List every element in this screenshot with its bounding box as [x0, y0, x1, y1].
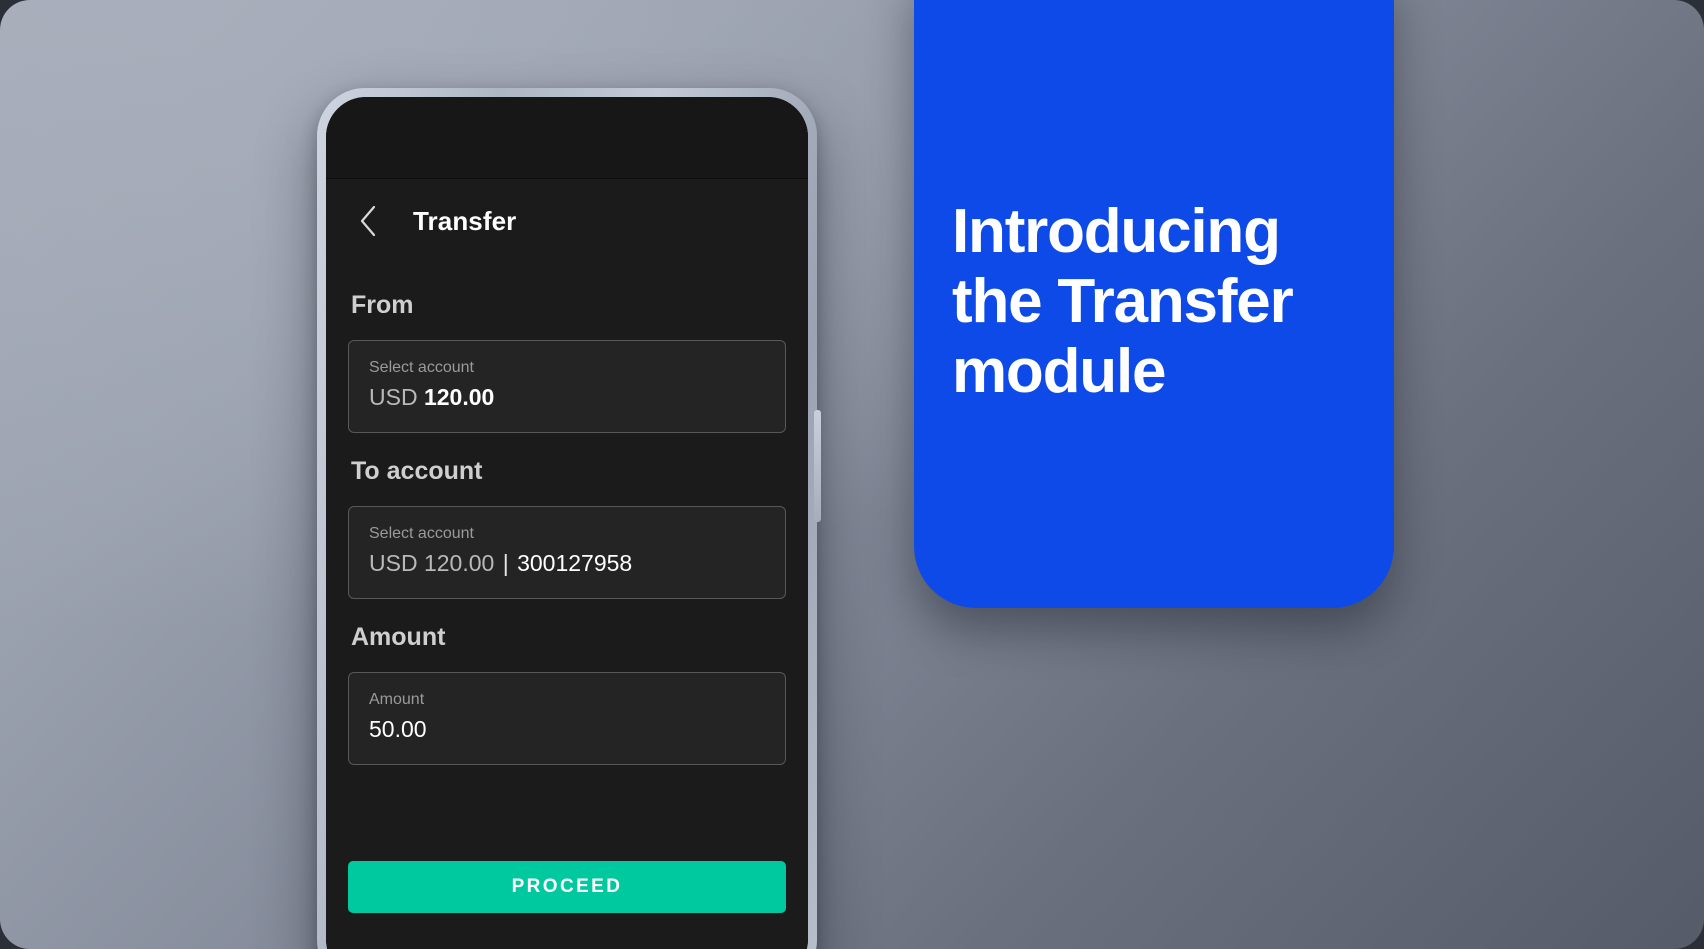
phone-mockup: Transfer From Select account USD 120.00 …: [317, 88, 817, 949]
amount-input-value: 50.00: [369, 716, 427, 742]
from-account-label: Select account: [369, 357, 765, 378]
to-account-value: USD 120.00 | 300127958: [369, 548, 765, 578]
to-account-separator: |: [501, 550, 511, 576]
amount-value: 50.00: [369, 714, 765, 744]
chevron-left-icon[interactable]: [351, 204, 385, 238]
from-account-field[interactable]: Select account USD 120.00: [348, 340, 786, 433]
from-account-balance: 120.00: [424, 384, 494, 410]
amount-field[interactable]: Amount 50.00: [348, 672, 786, 765]
promo-headline: Introducing the Transfer module: [952, 197, 1293, 407]
from-account-value: USD 120.00: [369, 382, 765, 412]
page-title: Transfer: [413, 206, 516, 237]
amount-label: Amount: [369, 689, 765, 710]
section-heading-from: From: [348, 291, 786, 320]
to-account-currency-amount: USD 120.00: [369, 550, 494, 576]
to-account-label: Select account: [369, 523, 765, 544]
screenshot-canvas: Transfer From Select account USD 120.00 …: [0, 0, 1704, 949]
status-bar: [326, 97, 808, 179]
proceed-button-container: PROCEED: [348, 861, 786, 913]
section-heading-amount: Amount: [348, 623, 786, 652]
proceed-button[interactable]: PROCEED: [348, 861, 786, 913]
transfer-screen: Transfer From Select account USD 120.00 …: [326, 179, 808, 949]
phone-screen: Transfer From Select account USD 120.00 …: [326, 97, 808, 949]
app-header: Transfer: [348, 179, 786, 263]
from-account-currency: USD: [369, 384, 418, 410]
to-account-number: 300127958: [517, 550, 632, 576]
promo-card: Introducing the Transfer module: [914, 0, 1394, 608]
section-heading-to-account: To account: [348, 457, 786, 486]
phone-power-button[interactable]: [814, 410, 821, 522]
to-account-field[interactable]: Select account USD 120.00 | 300127958: [348, 506, 786, 599]
